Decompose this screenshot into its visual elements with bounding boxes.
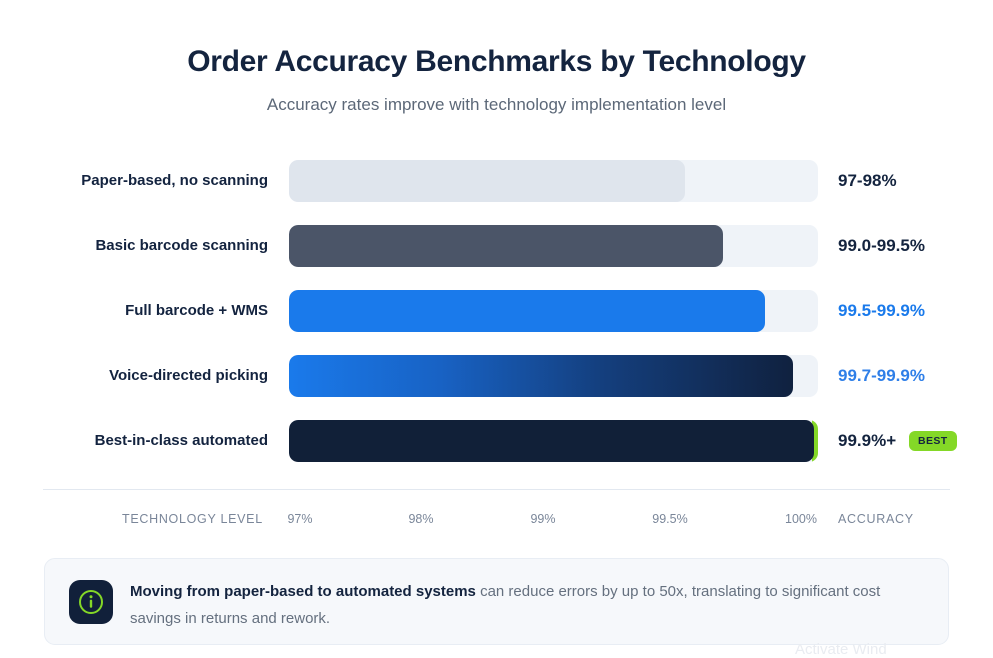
bar-row: Full barcode + WMS 99.5-99.9%: [0, 290, 993, 332]
insight-note-card: Moving from paper-based to automated sys…: [44, 558, 949, 645]
bar-track: [289, 160, 818, 202]
axis-label-technology-level: TECHNOLOGY LEVEL: [122, 509, 263, 529]
bar-category-label: Paper-based, no scanning: [0, 160, 268, 202]
bar-category-label: Voice-directed picking: [0, 355, 268, 397]
axis-tick: 99.5%: [652, 509, 687, 529]
axis-tick: 98%: [408, 509, 433, 529]
bar-row: Best-in-class automated 99.9%+ BEST: [0, 420, 993, 462]
bar-fill: [289, 420, 814, 462]
bar-category-label: Basic barcode scanning: [0, 225, 268, 267]
bar-fill: [289, 160, 685, 202]
chart-subtitle: Accuracy rates improve with technology i…: [0, 95, 993, 115]
chart-title: Order Accuracy Benchmarks by Technology: [0, 45, 993, 79]
axis-divider: [43, 489, 950, 490]
bar-rows: Paper-based, no scanning 97-98% Basic ba…: [0, 160, 993, 485]
bar-track: [289, 420, 818, 462]
chart-container: Order Accuracy Benchmarks by Technology …: [0, 0, 993, 651]
bar-track: [289, 225, 818, 267]
bar-row: Voice-directed picking 99.7-99.9%: [0, 355, 993, 397]
insight-note-lead: Moving from paper-based to automated sys…: [130, 583, 476, 600]
axis-label-accuracy: ACCURACY: [838, 509, 914, 529]
info-icon: [69, 580, 113, 624]
bar-value-label: 99.5-99.9%: [838, 290, 925, 332]
bar-value-label: 99.9%+: [838, 420, 896, 462]
bar-track: [289, 355, 818, 397]
bar-category-label: Full barcode + WMS: [0, 290, 268, 332]
bar-fill: [289, 355, 793, 397]
bar-value-label: 99.7-99.9%: [838, 355, 925, 397]
insight-note-text: Moving from paper-based to automated sys…: [130, 578, 920, 632]
axis-tick: 97%: [287, 509, 312, 529]
activation-watermark: Activate Wind: [795, 641, 887, 658]
axis-tick: 100%: [785, 509, 817, 529]
axis-row: TECHNOLOGY LEVEL 97% 98% 99% 99.5% 100% …: [0, 509, 993, 529]
bar-fill: [289, 290, 765, 332]
axis-tick: 99%: [530, 509, 555, 529]
bar-fill: [289, 225, 723, 267]
bar-category-label: Best-in-class automated: [0, 420, 268, 462]
bar-track: [289, 290, 818, 332]
bar-row: Paper-based, no scanning 97-98%: [0, 160, 993, 202]
bar-row: Basic barcode scanning 99.0-99.5%: [0, 225, 993, 267]
bar-value-label: 99.0-99.5%: [838, 225, 925, 267]
bar-value-label: 97-98%: [838, 160, 897, 202]
status-badge-best: BEST: [909, 431, 957, 451]
